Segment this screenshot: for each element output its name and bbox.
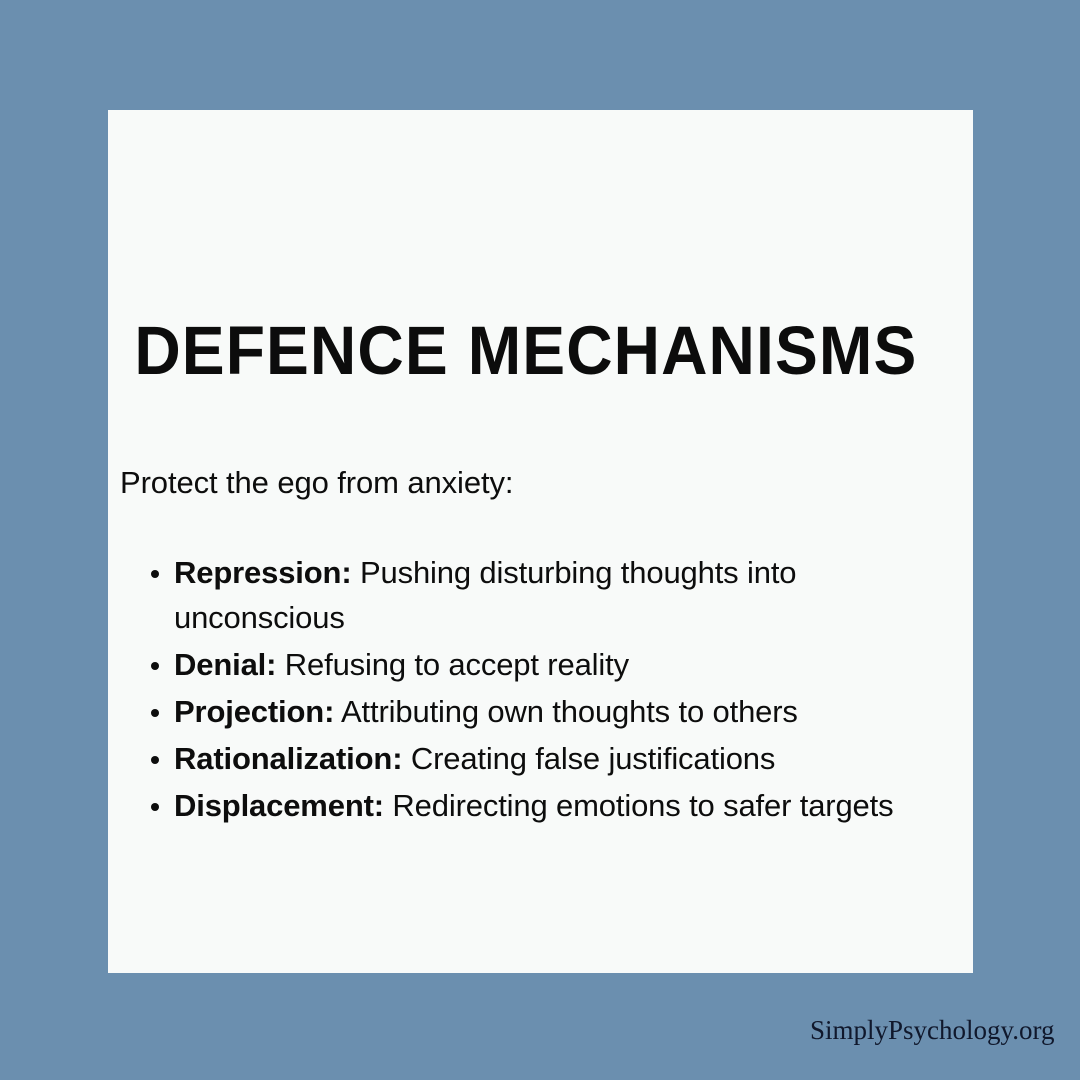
mechanism-term: Denial: [174, 647, 276, 682]
bullet-icon [151, 662, 159, 670]
bullet-icon [151, 709, 159, 717]
mechanism-term: Displacement: [174, 788, 384, 823]
mechanism-description: Refusing to accept reality [285, 647, 629, 682]
list-item: Repression: Pushing disturbing thoughts … [138, 550, 958, 640]
list-item: Rationalization: Creating false justific… [138, 736, 958, 781]
list-item: Projection: Attributing own thoughts to … [138, 689, 958, 734]
intro-text: Protect the ego from anxiety: [120, 463, 513, 503]
mechanism-list: Repression: Pushing disturbing thoughts … [138, 550, 958, 830]
page-title: DEFENCE MECHANISMS [134, 316, 833, 385]
mechanism-term: Rationalization: [174, 741, 402, 776]
mechanism-description: Attributing own thoughts to others [341, 694, 798, 729]
bullet-icon [151, 756, 159, 764]
list-item: Denial: Refusing to accept reality [138, 642, 958, 687]
arrow-right-icon[interactable] [878, 958, 973, 973]
mechanism-description: Creating false justifications [411, 741, 775, 776]
bullet-icon [151, 570, 159, 578]
list-item: Displacement: Redirecting emotions to sa… [138, 783, 958, 828]
infographic-poster: DEFENCE MECHANISMS Protect the ego from … [0, 0, 1080, 1080]
content-card: DEFENCE MECHANISMS Protect the ego from … [108, 110, 973, 973]
bullet-icon [151, 803, 159, 811]
mechanism-description: Redirecting emotions to safer targets [392, 788, 893, 823]
site-attribution: SimplyPsychology.org [810, 1016, 1055, 1046]
mechanism-term: Repression: [174, 555, 352, 590]
mechanism-term: Projection: [174, 694, 334, 729]
